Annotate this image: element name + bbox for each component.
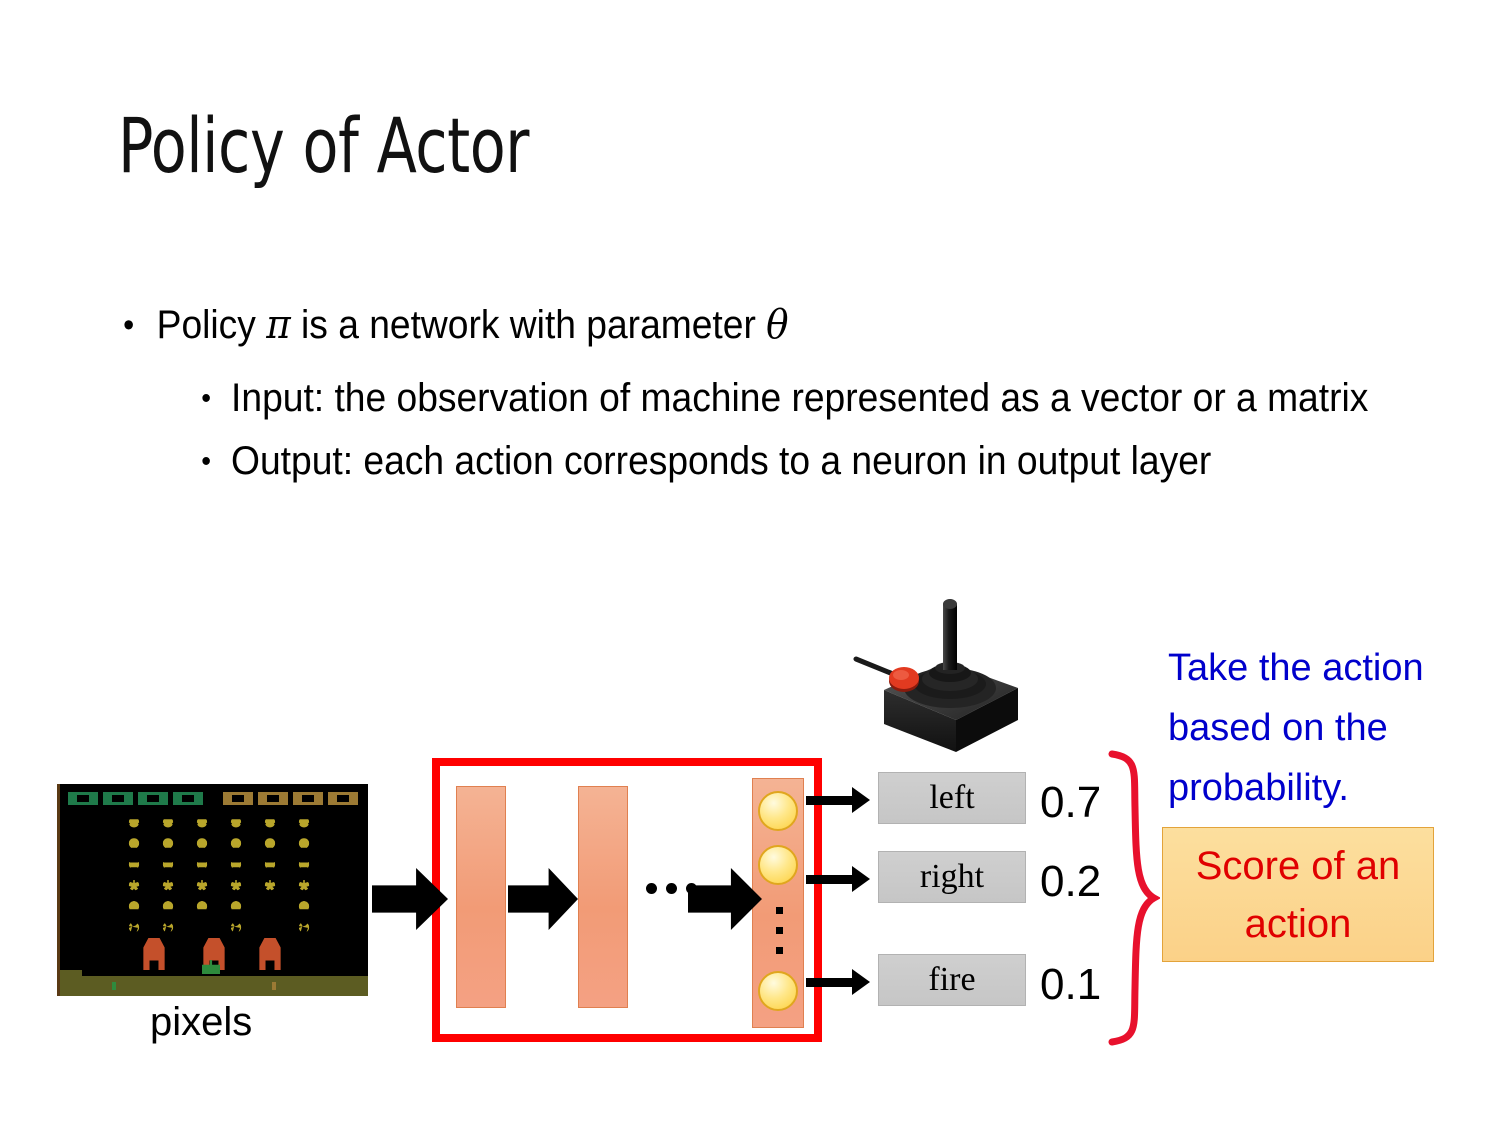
game-hud <box>60 792 368 806</box>
alien-slot-empty <box>260 900 280 915</box>
score-of-action-box: Score of an action <box>1162 827 1434 962</box>
probability-right: 0.2 <box>1040 857 1101 907</box>
alien-sprite <box>226 858 246 873</box>
space-invaders-screenshot <box>57 784 368 996</box>
output-neuron-right <box>758 845 798 885</box>
alien-sprite <box>124 837 144 852</box>
output-neuron-left <box>758 791 798 831</box>
action-label-right: right <box>920 858 984 896</box>
alien-sprite <box>294 837 314 852</box>
alien-sprite <box>124 858 144 873</box>
alien-sprite <box>192 816 212 831</box>
arrow-to-right-action-icon <box>806 875 854 884</box>
alien-sprite <box>192 837 212 852</box>
alien-sprite <box>294 816 314 831</box>
alien-sprite <box>192 900 212 915</box>
bullet-marker: • <box>201 372 211 425</box>
ground-marker <box>272 982 276 990</box>
arrow-to-left-action-icon <box>806 796 854 805</box>
score-box-line1: Score of an <box>1196 837 1401 895</box>
atari-joystick-icon <box>846 584 1046 764</box>
theta-symbol: θ <box>766 302 788 348</box>
alien-sprite <box>124 921 144 936</box>
alien-sprite <box>158 900 178 915</box>
hud-digit <box>258 792 288 805</box>
page-title: Policy of Actor <box>118 108 529 184</box>
alien-sprite <box>192 858 212 873</box>
alien-sprite <box>226 879 246 894</box>
ground-marker <box>112 982 116 990</box>
action-label-left: left <box>929 779 974 817</box>
probability-fire: 0.1 <box>1040 960 1101 1010</box>
bullet-input: •Input: the observation of machine repre… <box>192 372 1431 425</box>
bullet-policy-text-before: Policy <box>157 303 267 347</box>
alien-sprite <box>226 837 246 852</box>
alien-sprite <box>226 900 246 915</box>
hidden-layer-1 <box>456 786 506 1008</box>
hud-digit <box>68 792 98 805</box>
alien-sprite <box>158 921 178 936</box>
alien-grid <box>124 816 314 942</box>
output-neuron-fire <box>758 971 798 1011</box>
alien-row <box>124 921 314 940</box>
alien-row <box>124 837 314 856</box>
bullet-policy: •Policy π is a network with parameter θ <box>112 300 1340 350</box>
alien-row <box>124 900 314 919</box>
alien-sprite <box>192 879 212 894</box>
bullet-marker: • <box>123 300 134 350</box>
vertical-ellipsis-dot <box>776 907 783 914</box>
ellipsis-dot <box>666 883 677 894</box>
action-box-fire: fire <box>878 954 1026 1006</box>
alien-sprite <box>158 837 178 852</box>
alien-row <box>124 816 314 835</box>
horizontal-ellipsis-icon <box>646 883 697 894</box>
alien-sprite <box>124 816 144 831</box>
alien-sprite <box>294 900 314 915</box>
hud-digit <box>328 792 358 805</box>
hidden-layer-2 <box>578 786 628 1008</box>
alien-sprite <box>124 879 144 894</box>
ground-strip <box>60 976 368 996</box>
take-action-note: Take the action based on the probability… <box>1168 638 1488 818</box>
pixels-label: pixels <box>150 1000 252 1045</box>
score-box-line2: action <box>1245 895 1352 953</box>
output-layer <box>752 778 804 1028</box>
alien-sprite <box>294 858 314 873</box>
alien-slot-empty <box>260 921 280 936</box>
bullet-list: •Policy π is a network with parameter θ … <box>112 300 1432 488</box>
alien-sprite <box>260 816 280 831</box>
alien-sprite <box>260 858 280 873</box>
arrow-to-fire-action-icon <box>806 978 854 987</box>
alien-sprite <box>158 879 178 894</box>
hud-digit <box>223 792 253 805</box>
alien-row <box>124 858 314 877</box>
alien-sprite <box>294 879 314 894</box>
alien-sprite <box>260 879 280 894</box>
bullet-output: •Output: each action corresponds to a ne… <box>192 435 1431 488</box>
alien-sprite <box>124 900 144 915</box>
action-label-fire: fire <box>928 961 975 999</box>
action-box-right: right <box>878 851 1026 903</box>
alien-sprite <box>294 921 314 936</box>
probability-left: 0.7 <box>1040 778 1101 828</box>
hud-digit <box>173 792 203 805</box>
ellipsis-dot <box>686 883 697 894</box>
bullet-policy-text-middle: is a network with parameter <box>291 303 767 347</box>
bullet-output-label: Output: each action corresponds to a neu… <box>231 439 1211 483</box>
hud-digit <box>103 792 133 805</box>
bullet-marker: • <box>201 435 211 488</box>
bullet-input-label: Input: the observation of machine repres… <box>231 376 1368 420</box>
action-box-left: left <box>878 772 1026 824</box>
alien-sprite <box>158 816 178 831</box>
alien-sprite <box>260 837 280 852</box>
alien-sprite <box>226 816 246 831</box>
alien-slot-empty <box>192 921 212 936</box>
vertical-ellipsis-dot <box>776 927 783 934</box>
alien-row <box>124 879 314 898</box>
alien-sprite <box>158 858 178 873</box>
alien-sprite <box>226 921 246 936</box>
hud-digit <box>138 792 168 805</box>
hud-digit <box>293 792 323 805</box>
ellipsis-dot <box>646 883 657 894</box>
pi-symbol: π <box>266 302 290 348</box>
vertical-ellipsis-dot <box>776 947 783 954</box>
red-curly-brace-icon <box>1104 748 1160 1048</box>
